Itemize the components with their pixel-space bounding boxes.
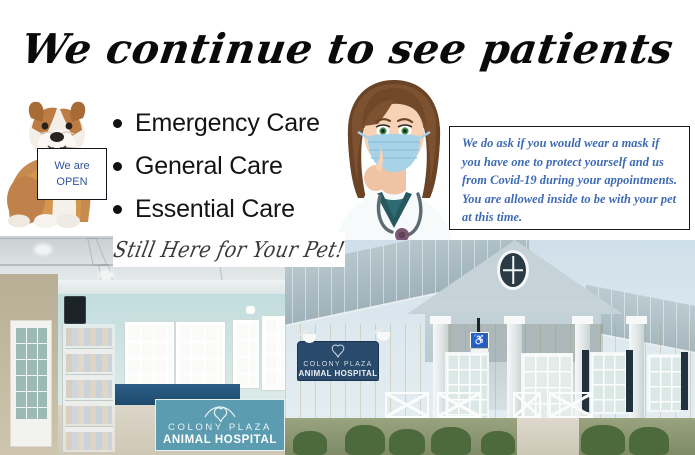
building-sign: COLONY PLAZA ANIMAL HOSPITAL <box>297 341 379 381</box>
window <box>125 322 174 388</box>
shrub <box>293 431 327 455</box>
window-pane <box>264 318 284 388</box>
window-pane <box>178 324 223 386</box>
sign-line-2: ANIMAL HOSPITAL <box>298 369 377 378</box>
service-label: General Care <box>135 151 283 181</box>
open-sign-line-2: OPEN <box>56 174 87 190</box>
shrub <box>431 427 471 455</box>
paw-monogram-icon <box>203 403 237 427</box>
shutter <box>626 350 633 412</box>
window <box>176 322 225 388</box>
services-list: Emergency Care General Care Essential Ca… <box>113 108 353 237</box>
poster-canvas: We continue to see patients <box>0 0 695 455</box>
wheelchair-icon: ♿ <box>473 336 487 347</box>
mask-notice-text: We do ask if you would wear a mask if yo… <box>462 134 680 227</box>
list-item: Essential Care <box>113 194 353 224</box>
shrub <box>481 431 515 455</box>
shrub <box>389 429 425 455</box>
script-banner-text: Still Here for Your Pet! <box>113 237 345 262</box>
veterinarian-illustration <box>318 72 470 250</box>
open-sign-line-1: We are <box>54 158 89 174</box>
door-glass <box>15 327 47 419</box>
mask-notice-box: We do ask if you would wear a mask if yo… <box>449 126 690 230</box>
sign-line-1: COLONY PLAZA <box>303 361 372 369</box>
window <box>233 320 259 388</box>
window-pane <box>235 322 257 386</box>
entry-walkway <box>517 418 579 455</box>
list-item: General Care <box>113 151 353 181</box>
script-banner: Still Here for Your Pet! <box>113 232 345 267</box>
side-door <box>10 320 52 447</box>
shrub <box>629 427 669 455</box>
window <box>647 354 683 412</box>
porch-railing <box>385 392 429 418</box>
oval-window-icon <box>497 250 529 290</box>
we-are-open-sign: We are OPEN <box>37 148 107 200</box>
exterior-photo: COLONY PLAZA ANIMAL HOSPITAL ♿ <box>285 240 695 455</box>
wall-sconce <box>246 306 255 314</box>
paw-monogram-icon <box>329 343 347 359</box>
window <box>590 352 628 414</box>
shrub <box>581 425 625 455</box>
shutter <box>681 352 688 410</box>
shrub <box>345 425 385 455</box>
service-label: Essential Care <box>135 194 295 224</box>
soffit <box>58 280 285 294</box>
window <box>262 316 285 390</box>
logo-line-2: ANIMAL HOSPITAL <box>163 434 277 447</box>
retail-shelving <box>62 324 115 452</box>
porch-railing <box>549 392 593 418</box>
bullet-dot-icon <box>113 162 122 171</box>
wall-monitor <box>64 296 86 324</box>
list-item: Emergency Care <box>113 108 353 138</box>
bullet-dot-icon <box>113 119 122 128</box>
page-title: We continue to see patients <box>0 26 695 72</box>
window-pane <box>127 324 172 386</box>
service-label: Emergency Care <box>135 108 320 138</box>
logo-badge: COLONY PLAZA ANIMAL HOSPITAL <box>155 399 285 451</box>
porch-railing <box>513 392 541 418</box>
porch-railing <box>437 392 481 418</box>
bullet-dot-icon <box>113 205 122 214</box>
